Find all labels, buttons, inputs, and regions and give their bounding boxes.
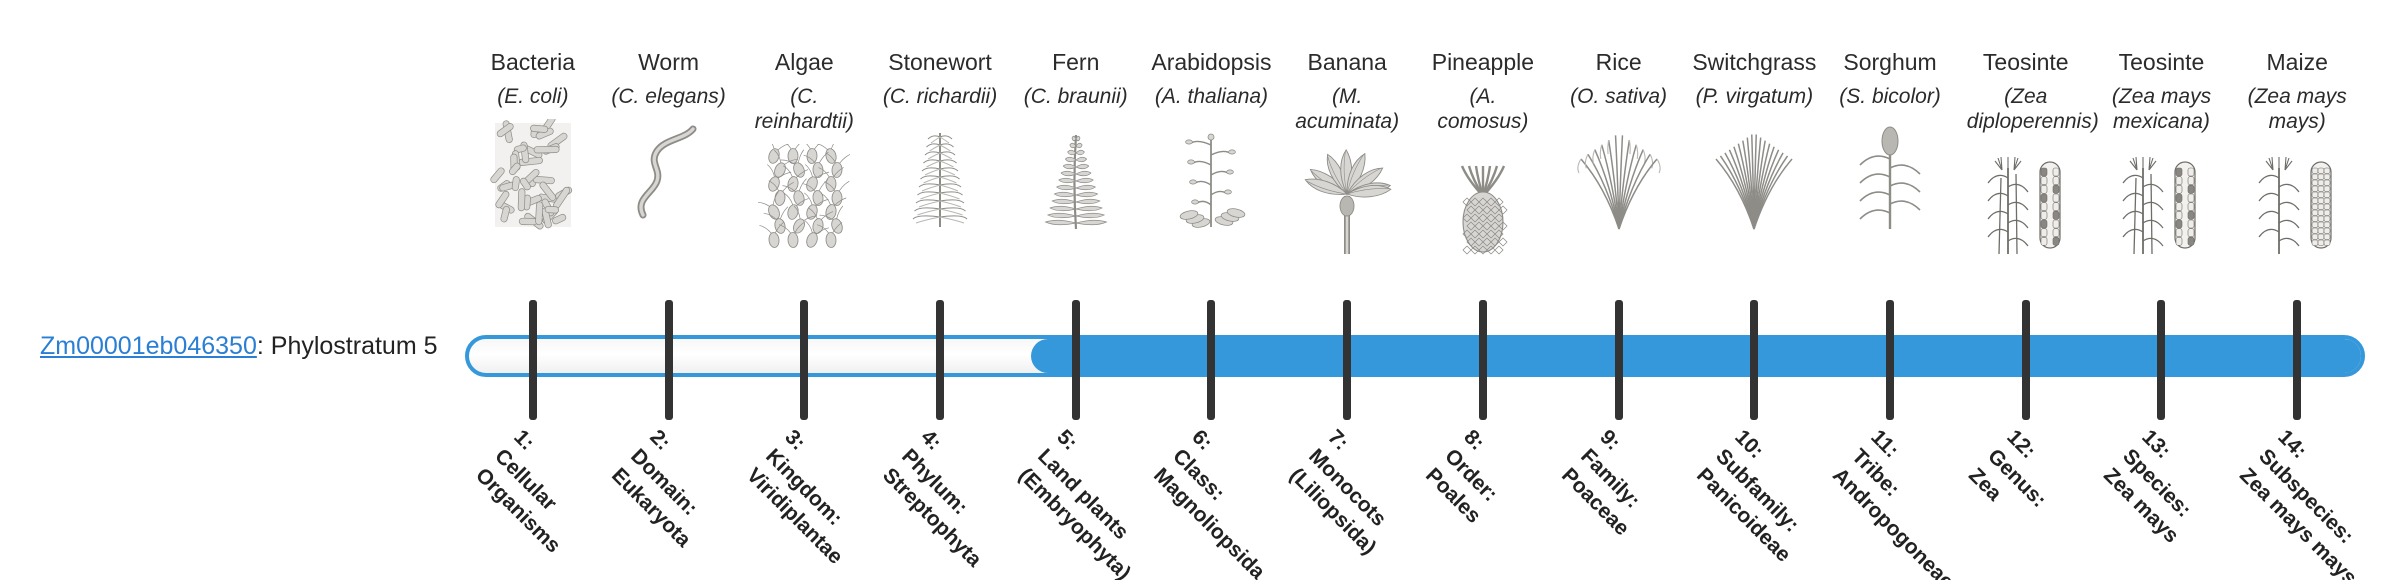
species-latin-name: (Zea mays mexicana) [2102, 84, 2220, 134]
banana-plant-illustration [1301, 144, 1393, 256]
assigned-phylostratum-text: Phylostratum 5 [271, 332, 438, 360]
phylostratum-bar-track [465, 335, 2365, 377]
species-common-name: Sorghum [1843, 48, 1936, 76]
phylostratum-label: 7:Monocots(Liliopsida) [1284, 424, 1420, 560]
species-common-name: Teosinte [1983, 48, 2069, 76]
species-column: Fern(C. braunii) [1008, 48, 1144, 231]
switchgrass-clump-illustration [1708, 119, 1800, 231]
species-column: Maize(Zea mays mays) [2229, 48, 2365, 256]
species-common-name: Arabidopsis [1151, 48, 1271, 76]
teosinte-plant-and-ear-illustration [1980, 144, 2072, 256]
species-header-row: Bacteria(E. coli) [465, 48, 2365, 298]
species-common-name: Switchgrass [1692, 48, 1816, 76]
stonewort-illustration [894, 119, 986, 231]
phylostratum-label: 4:Phylum:Streptophyta [877, 424, 1026, 573]
species-column: Rice(O. sativa) [1551, 48, 1687, 231]
species-column: Teosinte(Zea diploperennis) [1958, 48, 2094, 256]
pineapple-fruit-illustration [1437, 144, 1529, 256]
bacteria-rods-illustration [487, 119, 579, 231]
species-common-name: Maize [2267, 48, 2328, 76]
fern-frond-illustration [1030, 119, 1122, 231]
sorghum-plant-illustration [1844, 119, 1936, 231]
species-column: Pineapple(A. comosus) [1415, 48, 1551, 256]
species-common-name: Stonewort [888, 48, 992, 76]
phylostratum-bar[interactable] [465, 335, 2365, 377]
species-latin-name: (S. bicolor) [1839, 84, 1941, 109]
phylostratum-label: 6:Class:Magnoliopsida [1148, 424, 1309, 580]
gene-separator: : [257, 332, 271, 360]
nematode-worm-illustration [623, 119, 715, 231]
species-column: Sorghum(S. bicolor) [1822, 48, 1958, 231]
phylostratum-label: 13:Species:Zea mays [2098, 424, 2223, 549]
species-latin-name: (A. thaliana) [1155, 84, 1268, 109]
species-common-name: Pineapple [1432, 48, 1534, 76]
species-column: Teosinte(Zea mays mexicana) [2094, 48, 2230, 256]
teosinte-plant-and-ear-illustration [2115, 144, 2207, 256]
species-common-name: Teosinte [2119, 48, 2205, 76]
phylostratum-label: 9:Family:Poaceae [1555, 424, 1673, 542]
species-common-name: Rice [1596, 48, 1642, 76]
arabidopsis-rosette-illustration [1165, 119, 1257, 231]
species-latin-name: (C. braunii) [1024, 84, 1128, 109]
phylostratum-chart: Zm00001eb046350: Phylostratum 5 Bacteria… [0, 0, 2400, 580]
species-common-name: Banana [1308, 48, 1387, 76]
phylostratum-label: 1:CellularOrganisms [470, 424, 605, 559]
species-common-name: Algae [775, 48, 834, 76]
species-common-name: Bacteria [491, 48, 575, 76]
maize-plant-and-ear-illustration [2251, 144, 2343, 256]
phylostratum-label-row: 1:CellularOrganisms2:Domain:Eukaryota3:K… [465, 424, 2365, 580]
phylostratum-label: 8:Order:Poales [1420, 424, 1525, 529]
species-column: Arabidopsis(A. thaliana) [1144, 48, 1280, 231]
phylostratum-label: 10:Subfamily:Panicoideae [1691, 424, 1835, 568]
species-common-name: Worm [638, 48, 699, 76]
gene-phylostratum-label: Zm00001eb046350: Phylostratum 5 [40, 331, 460, 361]
species-column: Bacteria(E. coli) [465, 48, 601, 231]
species-latin-name: (Zea diploperennis) [1967, 84, 2085, 134]
species-latin-name: (O. sativa) [1570, 84, 1667, 109]
phylostratum-label: 2:Domain:Eukaryota [605, 424, 734, 553]
phylostratum-label: 12:Genus:Zea [1962, 424, 2070, 532]
species-column: Switchgrass(P. virgatum) [1686, 48, 1822, 231]
species-column: Algae(C. reinhardtii) [736, 48, 872, 256]
species-common-name: Fern [1052, 48, 1099, 76]
species-latin-name: (C. elegans) [611, 84, 725, 109]
phylostratum-label: 11:Tribe:Andropogoneae [1827, 424, 1998, 580]
green-algae-cells-illustration [758, 144, 850, 256]
phylostratum-label: 3:Kingdom:Viridiplantae [741, 424, 887, 570]
species-latin-name: (P. virgatum) [1696, 84, 1813, 109]
species-latin-name: (E. coli) [497, 84, 568, 109]
rice-plant-illustration [1573, 119, 1665, 231]
species-latin-name: (A. comosus) [1424, 84, 1542, 134]
species-latin-name: (C. reinhardtii) [745, 84, 863, 134]
gene-id-link[interactable]: Zm00001eb046350 [40, 332, 257, 360]
species-latin-name: (M. acuminata) [1288, 84, 1406, 134]
species-column: Worm(C. elegans) [601, 48, 737, 231]
phylostratum-bar-fill [1031, 339, 2361, 373]
species-latin-name: (C. richardii) [883, 84, 997, 109]
phylostratum-label: 14:Subspecies:Zea mays mays [2234, 424, 2400, 580]
species-column: Stonewort(C. richardii) [872, 48, 1008, 231]
phylostratum-label: 5:Land plants(Embryophyta) [1012, 424, 1174, 580]
species-latin-name: (Zea mays mays) [2238, 84, 2356, 134]
species-column: Banana(M. acuminata) [1279, 48, 1415, 256]
